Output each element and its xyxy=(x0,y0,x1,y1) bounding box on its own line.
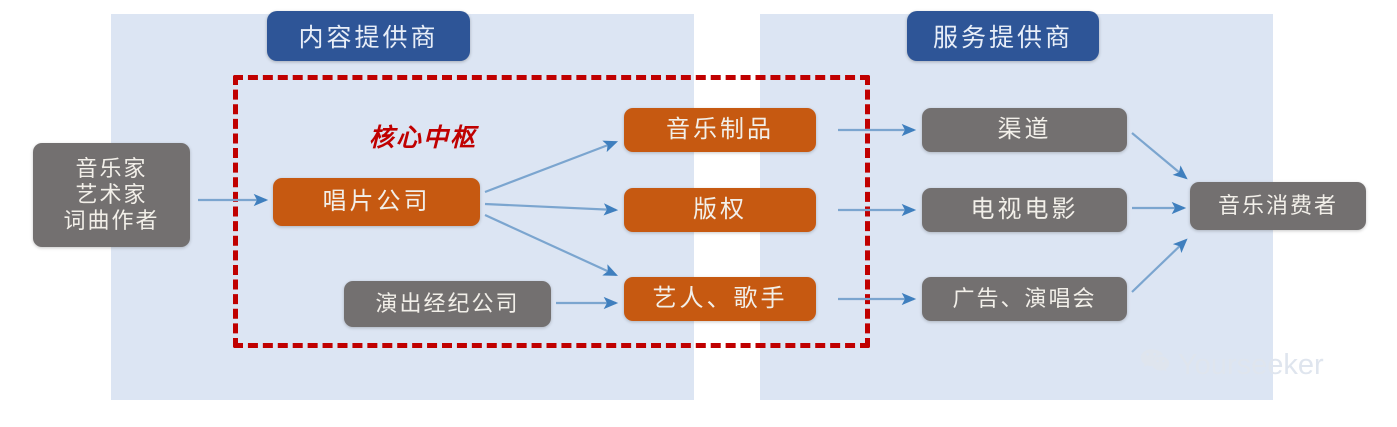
header-pill-service-provider-label: 服务提供商 xyxy=(933,18,1073,54)
node-record-company: 唱片公司 xyxy=(273,178,480,226)
node-channel: 渠道 xyxy=(922,108,1127,152)
wechat-icon xyxy=(1140,348,1170,382)
node-performance-agency-label: 演出经纪公司 xyxy=(375,291,519,317)
watermark: Yourseeker xyxy=(1140,348,1324,382)
node-artists-line-3: 词曲作者 xyxy=(63,208,159,234)
node-music-consumer: 音乐消费者 xyxy=(1190,182,1366,230)
diagram-canvas: 内容提供商 服务提供商 音乐家 艺术家 词曲作者 核心中枢 唱片公司 演出经纪公… xyxy=(0,0,1397,427)
node-artists-line-1: 音乐家 xyxy=(75,156,147,182)
node-artists: 音乐家 艺术家 词曲作者 xyxy=(33,143,190,247)
node-advertising-concert: 广告、演唱会 xyxy=(922,277,1127,321)
node-channel-label: 渠道 xyxy=(998,116,1052,144)
node-copyright: 版权 xyxy=(624,188,816,232)
node-music-products: 音乐制品 xyxy=(624,108,816,152)
node-advertising-concert-label: 广告、演唱会 xyxy=(952,286,1096,312)
node-artists-singers-label: 艺人、歌手 xyxy=(653,285,788,313)
node-copyright-label: 版权 xyxy=(693,196,747,224)
node-artists-singers: 艺人、歌手 xyxy=(624,277,816,321)
node-tv-film: 电视电影 xyxy=(922,188,1127,232)
core-hub-annotation-label: 核心中枢 xyxy=(333,118,513,154)
node-music-products-label: 音乐制品 xyxy=(666,116,774,144)
node-tv-film-label: 电视电影 xyxy=(971,196,1079,224)
header-pill-content-provider: 内容提供商 xyxy=(267,11,470,61)
watermark-text: Yourseeker xyxy=(1178,349,1324,382)
header-pill-content-provider-label: 内容提供商 xyxy=(298,18,438,54)
node-performance-agency: 演出经纪公司 xyxy=(344,281,551,327)
node-music-consumer-label: 音乐消费者 xyxy=(1218,193,1338,219)
node-record-company-label: 唱片公司 xyxy=(323,188,431,216)
node-artists-line-2: 艺术家 xyxy=(75,182,147,208)
header-pill-service-provider: 服务提供商 xyxy=(907,11,1099,61)
